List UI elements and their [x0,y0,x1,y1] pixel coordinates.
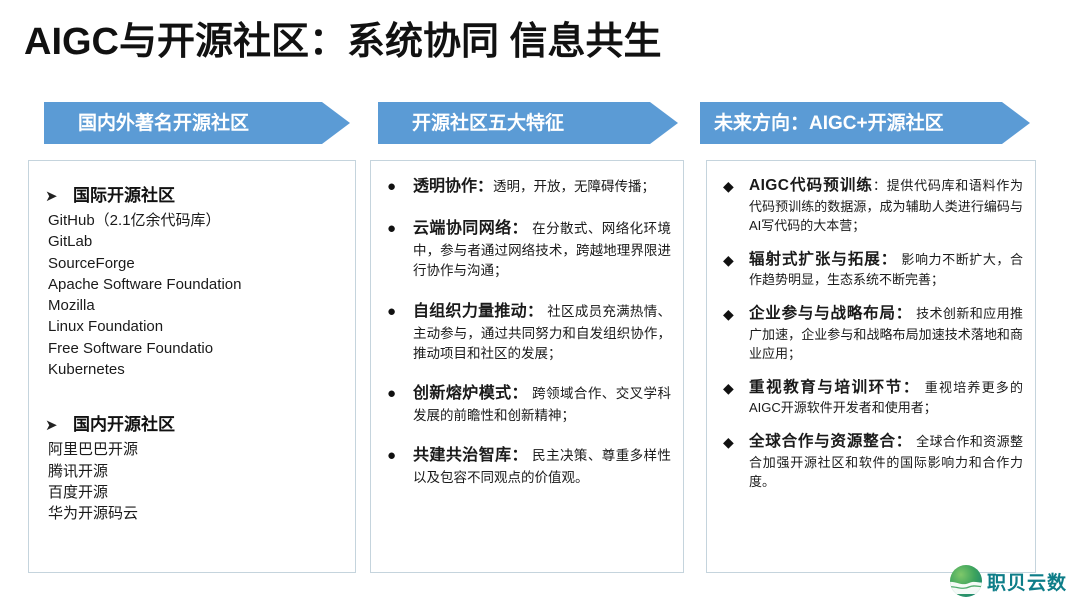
direction-body: 辐射式扩张与拓展： 影响力不断扩大，合作趋势明显，生态系统不断完善； [749,249,1023,291]
direction-item: ◆ 辐射式扩张与拓展： 影响力不断扩大，合作趋势明显，生态系统不断完善； [723,249,1023,291]
diamond-bullet-icon: ◆ [723,175,749,196]
list-item: 百度开源 [48,482,343,503]
direction-item: ◆ 企业参与与战略布局： 技术创新和应用推广加速，企业参与和战略布局加速技术落地… [723,303,1023,364]
round-bullet-icon: ● [387,217,413,240]
feature-body: 透明协作：透明，开放，无障碍传播； [413,175,671,199]
diamond-bullet-icon: ◆ [723,249,749,270]
arrow-bullet-icon: ➤ [45,187,73,205]
group-heading-domestic: ➤ 国内开源社区 [45,410,343,435]
content-box-column-3: ◆ AIGC代码预训练：提供代码库和语料作为代码预训练的数据源，成为辅助人类进行… [706,160,1036,573]
direction-body: AIGC代码预训练：提供代码库和语料作为代码预训练的数据源，成为辅助人类进行编码… [749,175,1023,236]
group-heading-international: ➤ 国际开源社区 [45,181,343,206]
group-heading-international-label: 国际开源社区 [73,181,175,206]
feature-title: 创新熔炉模式： [413,385,528,402]
feature-item: ● 云端协同网络： 在分散式、网络化环境中，参与者通过网络技术，跨越地理界限进行… [387,217,671,282]
direction-item: ◆ 重视教育与培训环节： 重视培养更多的AIGC开源软件开发者和使用者； [723,377,1023,419]
page-title: AIGC与开源社区：系统协同 信息共生 [24,10,662,65]
feature-title: 透明协作： [413,178,493,195]
direction-title: 辐射式扩张与拓展： [749,251,897,268]
diamond-bullet-icon: ◆ [723,377,749,398]
round-bullet-icon: ● [387,444,413,467]
feature-text: 透明，开放，无障碍传播； [493,179,655,194]
direction-title: AIGC代码预训练 [749,177,873,194]
round-bullet-icon: ● [387,382,413,405]
direction-body: 企业参与与战略布局： 技术创新和应用推广加速，企业参与和战略布局加速技术落地和商… [749,303,1023,364]
list-item: GitLab [48,231,343,252]
brand-logo-text: 职贝云数 [987,568,1067,595]
feature-title: 云端协同网络： [413,220,528,237]
banner-column-2: 开源社区五大特征 [378,102,678,144]
feature-body: 云端协同网络： 在分散式、网络化环境中，参与者通过网络技术，跨越地理界限进行协作… [413,217,671,282]
column-1-content: ➤ 国际开源社区 GitHub（2.1亿余代码库） GitLab SourceF… [29,161,355,525]
direction-body: 全球合作与资源整合： 全球合作和资源整合加强开源社区和软件的国际影响力和合作力度… [749,431,1023,492]
banner-column-3-label: 未来方向：AIGC+开源社区 [700,114,944,133]
list-item: Free Software Foundatio [48,338,343,359]
feature-item: ● 自组织力量推动： 社区成员充满热情、主动参与，通过共同努力和自发组织协作，推… [387,300,671,365]
direction-body: 重视教育与培训环节： 重视培养更多的AIGC开源软件开发者和使用者； [749,377,1023,419]
list-item: Mozilla [48,295,343,316]
banner-column-3: 未来方向：AIGC+开源社区 [700,102,1030,144]
list-item: 腾讯开源 [48,461,343,482]
group-heading-domestic-label: 国内开源社区 [73,410,175,435]
feature-title: 共建共治智库： [413,447,528,464]
wave-circle-icon [950,565,982,597]
feature-item: ● 创新熔炉模式： 跨领域合作、交叉学科发展的前瞻性和创新精神； [387,382,671,426]
list-international: GitHub（2.1亿余代码库） GitLab SourceForge Apac… [45,210,343,380]
group-spacer [45,384,343,404]
direction-title: 全球合作与资源整合： [749,433,912,450]
list-item: GitHub（2.1亿余代码库） [48,210,343,231]
list-item: Apache Software Foundation [48,274,343,295]
group-domestic-communities: ➤ 国内开源社区 阿里巴巴开源 腾讯开源 百度开源 华为开源码云 [45,410,343,524]
list-item: Linux Foundation [48,316,343,337]
round-bullet-icon: ● [387,175,413,198]
group-international-communities: ➤ 国际开源社区 GitHub（2.1亿余代码库） GitLab SourceF… [45,181,343,380]
banner-column-1-label: 国内外著名开源社区 [44,114,249,133]
direction-item: ◆ AIGC代码预训练：提供代码库和语料作为代码预训练的数据源，成为辅助人类进行… [723,175,1023,236]
arrow-bullet-icon: ➤ [45,416,73,434]
list-item: 阿里巴巴开源 [48,439,343,460]
diamond-bullet-icon: ◆ [723,303,749,324]
banner-column-1: 国内外著名开源社区 [44,102,350,144]
feature-body: 创新熔炉模式： 跨领域合作、交叉学科发展的前瞻性和创新精神； [413,382,671,426]
column-3-content: ◆ AIGC代码预训练：提供代码库和语料作为代码预训练的数据源，成为辅助人类进行… [707,161,1035,492]
content-box-column-2: ● 透明协作：透明，开放，无障碍传播； ● 云端协同网络： 在分散式、网络化环境… [370,160,684,573]
feature-item: ● 共建共治智库： 民主决策、尊重多样性以及包容不同观点的价值观。 [387,444,671,488]
diamond-bullet-icon: ◆ [723,431,749,452]
feature-title: 自组织力量推动： [413,303,543,320]
feature-item: ● 透明协作：透明，开放，无障碍传播； [387,175,671,199]
list-item: SourceForge [48,253,343,274]
list-item: 华为开源码云 [48,503,343,524]
content-box-column-1: ➤ 国际开源社区 GitHub（2.1亿余代码库） GitLab SourceF… [28,160,356,573]
direction-title: 企业参与与战略布局： [749,305,912,322]
direction-item: ◆ 全球合作与资源整合： 全球合作和资源整合加强开源社区和软件的国际影响力和合作… [723,431,1023,492]
list-domestic: 阿里巴巴开源 腾讯开源 百度开源 华为开源码云 [45,439,343,524]
brand-logo: 职贝云数 [950,565,1067,597]
column-2-content: ● 透明协作：透明，开放，无障碍传播； ● 云端协同网络： 在分散式、网络化环境… [371,161,683,489]
feature-body: 共建共治智库： 民主决策、尊重多样性以及包容不同观点的价值观。 [413,444,671,488]
round-bullet-icon: ● [387,300,413,323]
feature-body: 自组织力量推动： 社区成员充满热情、主动参与，通过共同努力和自发组织协作，推动项… [413,300,671,365]
direction-title: 重视教育与培训环节： [749,379,920,396]
banner-column-2-label: 开源社区五大特征 [378,114,564,133]
list-item: Kubernetes [48,359,343,380]
